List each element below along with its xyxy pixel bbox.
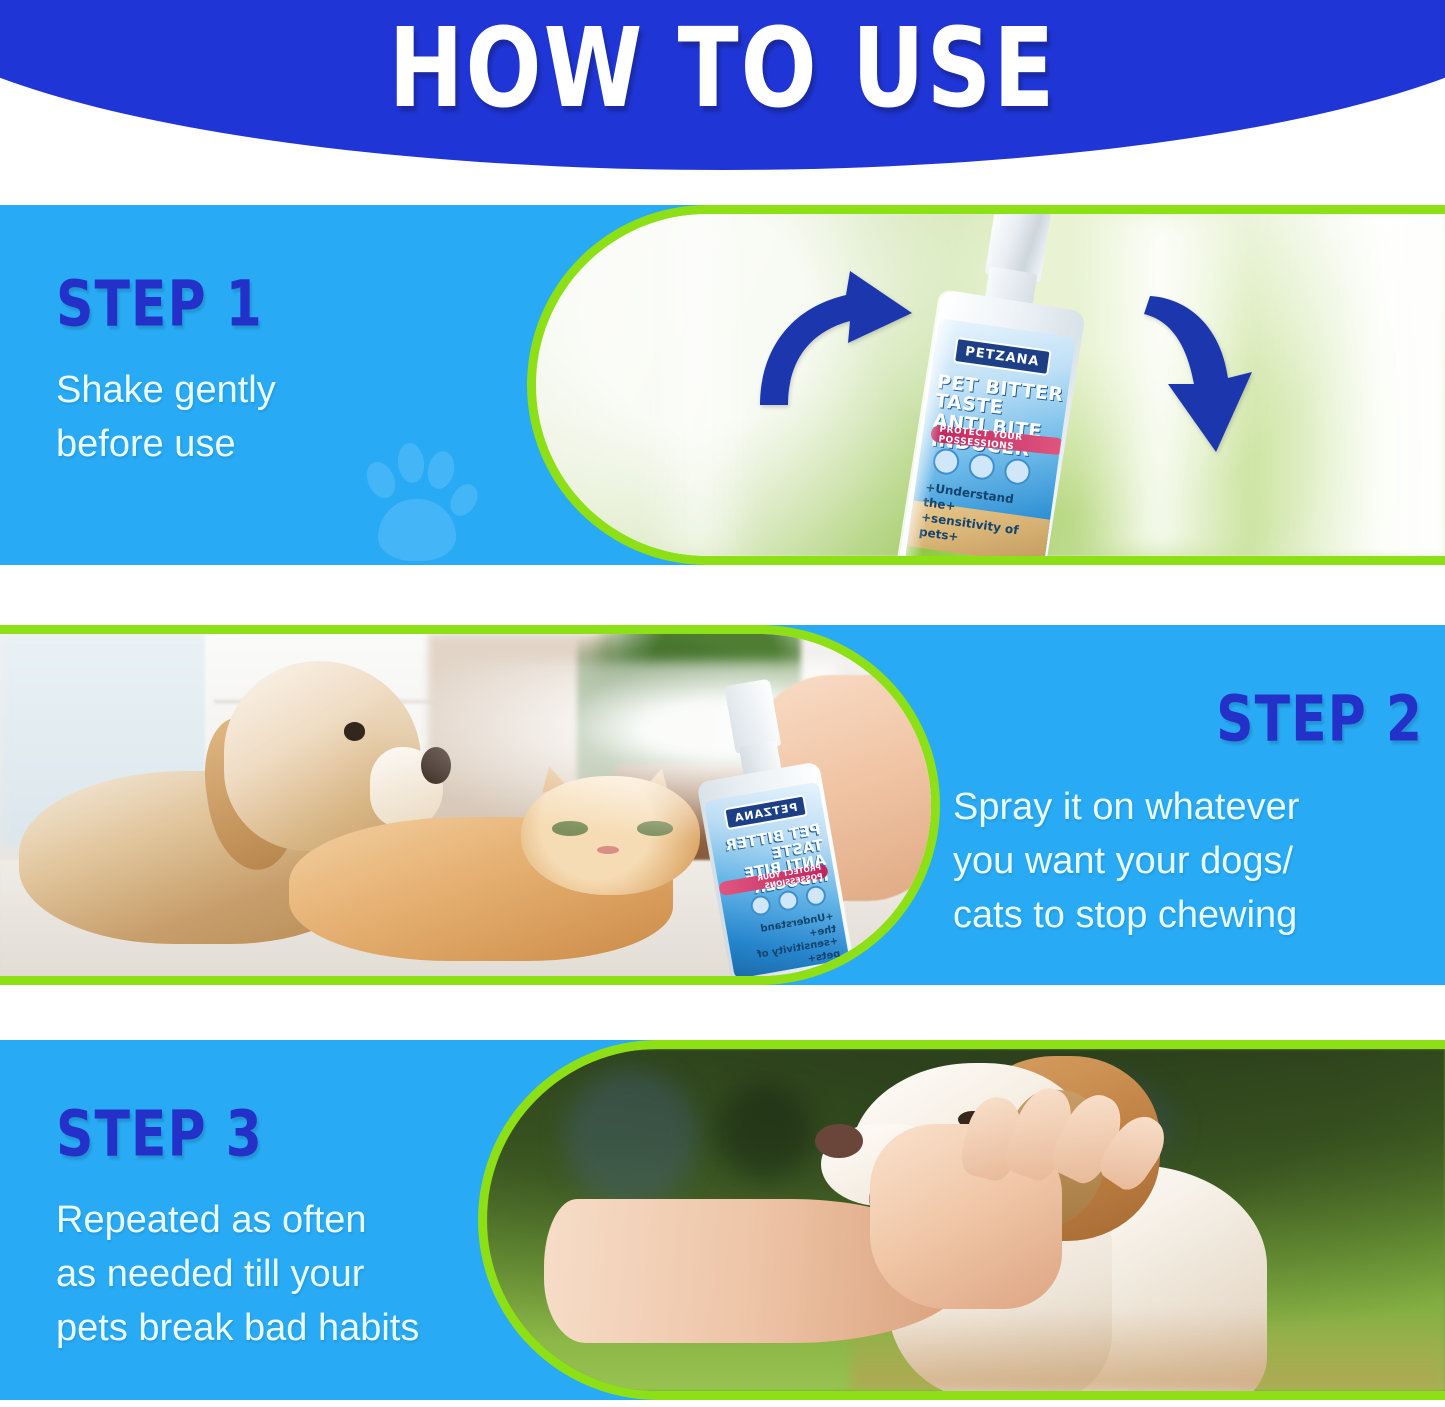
step-3-body-line: as needed till your <box>56 1248 419 1302</box>
step-1-body: Shake gently before use <box>56 364 276 472</box>
product-claim-line1: +Understand the+ <box>922 480 1014 513</box>
step-3-body-line: pets break bad habits <box>56 1302 419 1356</box>
step-2-photo: PETZANA PET BITTER TASTE ANTI BITE INDUC… <box>0 625 940 985</box>
step-2-body-line: cats to stop chewing <box>953 889 1423 943</box>
step-2-text-block: STEP 2 Spray it on whatever you want you… <box>953 683 1423 943</box>
paw-print-icon <box>362 437 482 565</box>
background-blur <box>717 1083 813 1179</box>
arrow-down-curved-icon <box>1124 292 1299 457</box>
product-claim-line2: +sensitivity of pets+ <box>918 510 1019 544</box>
step-panel-3: STEP 3 Repeated as often as needed till … <box>0 1040 1445 1400</box>
step-1-body-line: before use <box>56 418 276 472</box>
brand-name: PETZANA <box>953 337 1052 376</box>
step-2-body: Spray it on whatever you want your dogs/… <box>953 781 1423 943</box>
step-1-heading: STEP 1 <box>56 268 276 341</box>
step-panel-1: STEP 1 Shake gently before use <box>0 205 1445 565</box>
step-1-body-line: Shake gently <box>56 364 276 418</box>
page-title: HOW TO USE <box>0 14 1445 124</box>
header-banner: HOW TO USE <box>0 0 1445 170</box>
step-panel-2: STEP 2 Spray it on whatever you want you… <box>0 625 1445 985</box>
step-2-heading: STEP 2 <box>953 683 1423 756</box>
step-3-photo <box>478 1040 1445 1400</box>
step-3-text-block: STEP 3 Repeated as often as needed till … <box>56 1098 419 1356</box>
product-claim-line1: +Understand the+ <box>760 911 837 939</box>
product-claim-line2: +sensitivity of pets+ <box>757 936 842 965</box>
background-blur <box>564 1070 698 1207</box>
step-1-text-block: STEP 1 Shake gently before use <box>56 268 276 472</box>
arrow-up-curved-icon <box>742 269 922 409</box>
step-1-photo: PETZANA PET BITTER TASTE ANTI BITE INDUC… <box>527 205 1445 565</box>
step-2-body-line: you want your dogs/ <box>953 835 1423 889</box>
step-3-heading: STEP 3 <box>56 1098 419 1171</box>
bokeh-highlight <box>645 214 754 556</box>
step-3-body: Repeated as often as needed till your pe… <box>56 1194 419 1356</box>
step-2-body-line: Spray it on whatever <box>953 781 1423 835</box>
step-3-body-line: Repeated as often <box>56 1194 419 1248</box>
